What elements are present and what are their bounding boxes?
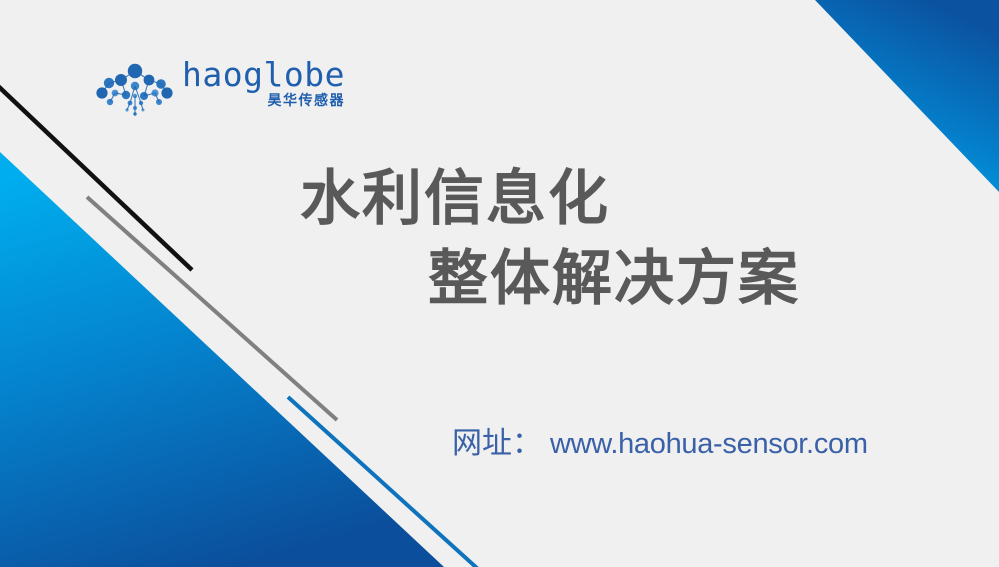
logo-wordmark: haoglobe bbox=[182, 58, 345, 92]
title-line-1: 水利信息化 bbox=[300, 160, 900, 240]
presentation-slide: haoglobe 昊华传感器 水利信息化 整体解决方案 网址： www.haoh… bbox=[0, 0, 999, 567]
slide-title: 水利信息化 整体解决方案 bbox=[300, 160, 900, 320]
title-line-2: 整体解决方案 bbox=[300, 240, 900, 320]
company-logo: haoglobe 昊华传感器 bbox=[96, 58, 345, 118]
logo-text-block: haoglobe 昊华传感器 bbox=[182, 58, 345, 108]
logo-subtitle: 昊华传感器 bbox=[267, 94, 345, 108]
website-label: 网址： bbox=[452, 418, 542, 462]
network-nodes-icon bbox=[96, 62, 174, 118]
website-line: 网址： www.haohua-sensor.com bbox=[452, 418, 868, 462]
website-url[interactable]: www.haohua-sensor.com bbox=[550, 428, 868, 461]
